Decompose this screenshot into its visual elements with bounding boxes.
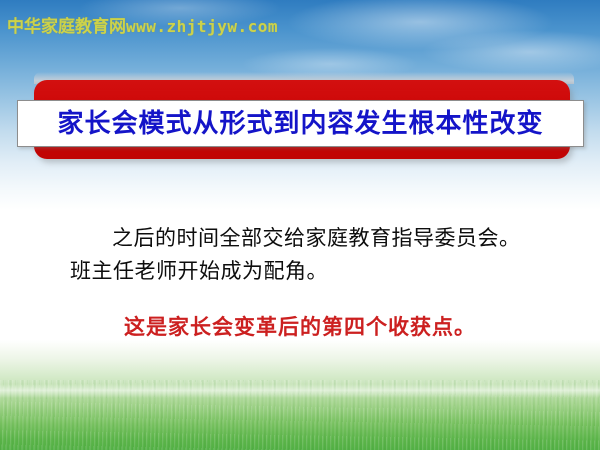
page-title: 家长会模式从形式到内容发生根本性改变 <box>57 111 543 137</box>
presentation-slide: 中华家庭教育网www.zhjtjyw.com 家长会模式从形式到内容发生根本性改… <box>0 0 600 450</box>
body-text-block: 之后的时间全部交给家庭教育指导委员会。班主任老师开始成为配角。 <box>70 222 540 288</box>
highlight-statement: 这是家长会变革后的第四个收获点。 <box>124 315 476 339</box>
body-paragraph: 之后的时间全部交给家庭教育指导委员会。班主任老师开始成为配角。 <box>70 222 540 288</box>
title-banner: 家长会模式从形式到内容发生根本性改变 <box>0 0 600 200</box>
title-text-box: 家长会模式从形式到内容发生根本性改变 <box>17 100 584 147</box>
highlight-text-block: 这是家长会变革后的第四个收获点。 <box>0 315 600 340</box>
horizon-haze <box>0 384 600 398</box>
